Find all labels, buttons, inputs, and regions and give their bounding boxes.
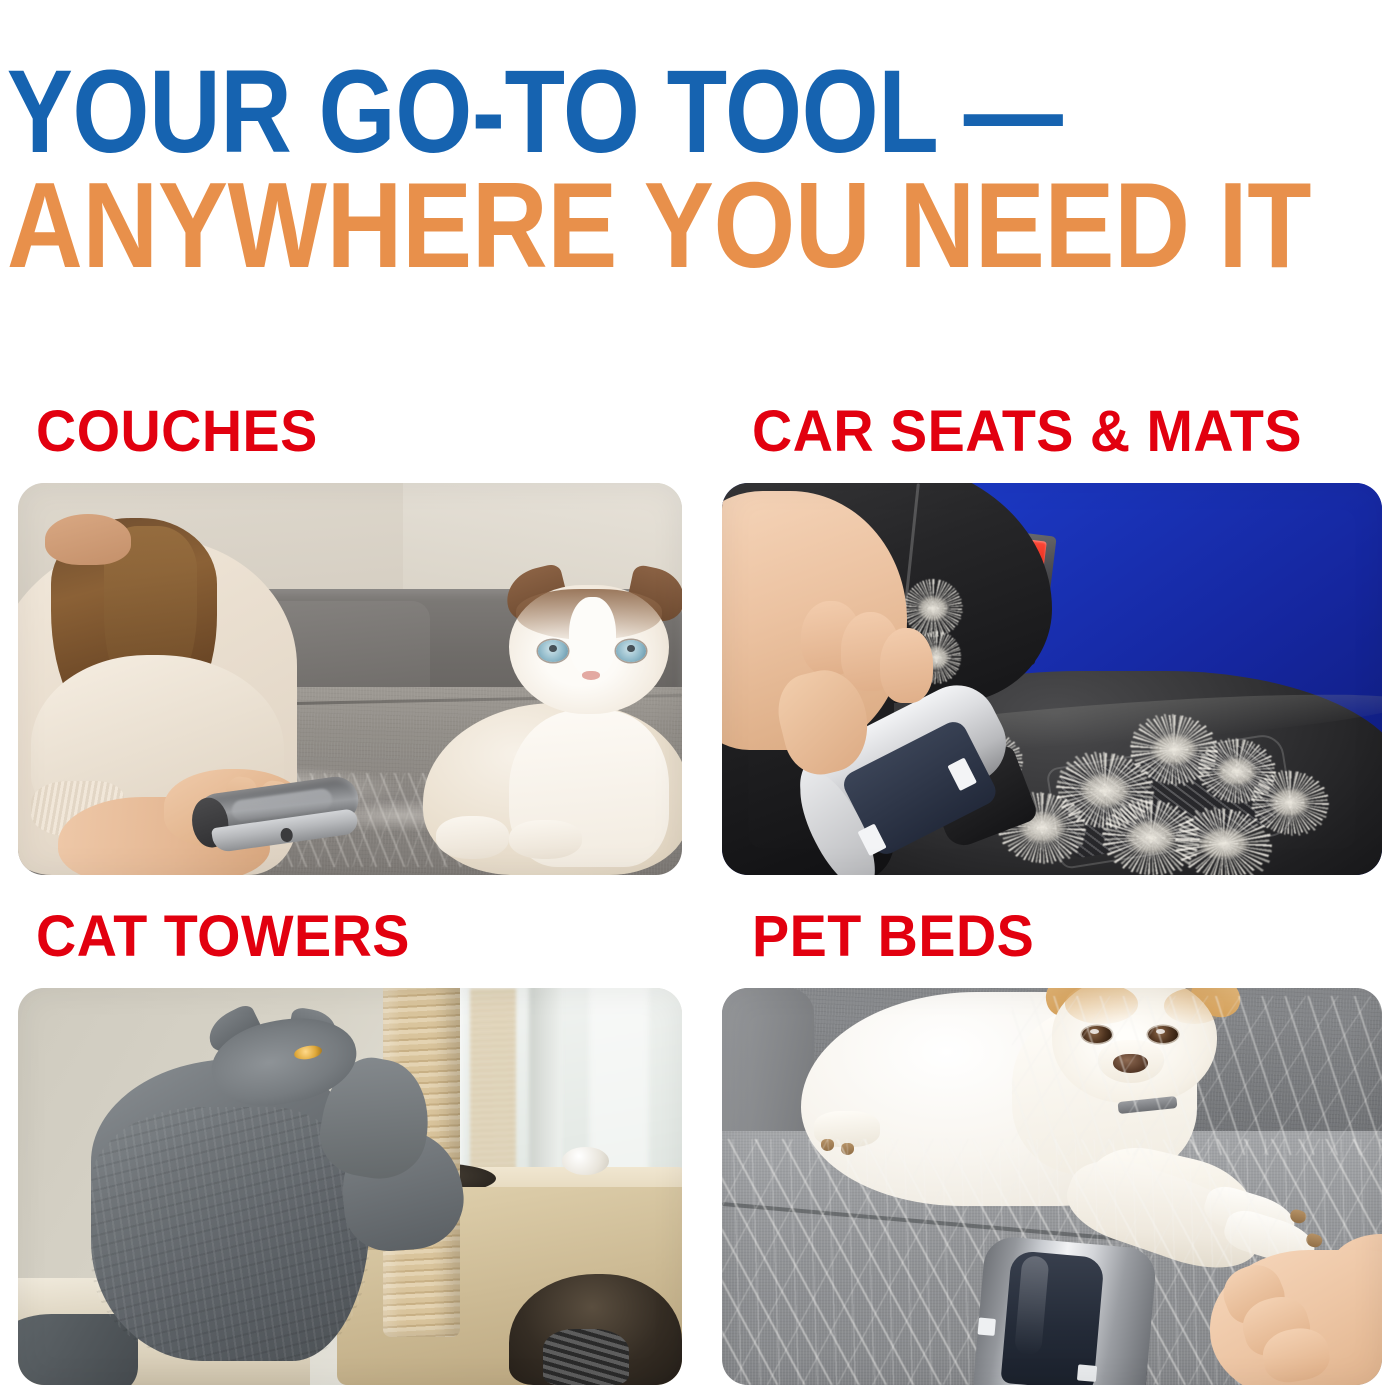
panel-label-car-seats-mats: CAR SEATS & MATS [752,398,1302,465]
cat-face-blaze [569,597,615,675]
pet-fur-clump [913,589,953,628]
panel-label-cat-towers: CAT TOWERS [36,903,410,970]
woman-shoulder-skin [45,514,131,565]
photo-panel-couches [18,483,682,875]
infographic-page: YOUR GO-TO TOOL — ANYWHERE YOU NEED IT C… [0,0,1400,1400]
headline-line-1: YOUR GO-TO TOOL — [0,58,1176,167]
pet-hair-remover-device [973,1235,1158,1385]
pet-fur-clump [1118,812,1184,863]
pet-fur-clump [1263,781,1316,824]
car-seat-scene-image [722,483,1382,875]
cat-eye-left [538,640,569,662]
loose-dog-hair-on-backrest [1012,996,1382,1155]
headline-line-2: ANYWHERE YOU NEED IT [0,169,1207,281]
hanging-pom-pom-toy [562,1147,608,1175]
cat-paw-left [436,816,509,859]
headline-block: YOUR GO-TO TOOL — ANYWHERE YOU NEED IT [0,58,1400,281]
cat-nose [582,671,599,680]
roller-tab [978,1317,997,1336]
panel-label-pet-beds: PET BEDS [752,903,1034,970]
couch-scene-image [18,483,682,875]
photo-panel-cat-towers [18,988,682,1385]
pet-fur-clump [1191,820,1257,867]
pet-fur-clump [1144,726,1203,773]
cat-toy-in-cave [543,1329,629,1385]
panel-label-couches: COUCHES [36,398,318,465]
pet-bed-scene-image [722,988,1382,1385]
cat-paw-right [509,820,582,859]
photo-panel-car-seats-mats [722,483,1382,875]
roller-tab [1077,1364,1097,1381]
cat-eye-right [616,640,647,662]
photo-panel-pet-beds [722,988,1382,1385]
finger [880,628,933,702]
cat-tower-scene-image [18,988,682,1385]
